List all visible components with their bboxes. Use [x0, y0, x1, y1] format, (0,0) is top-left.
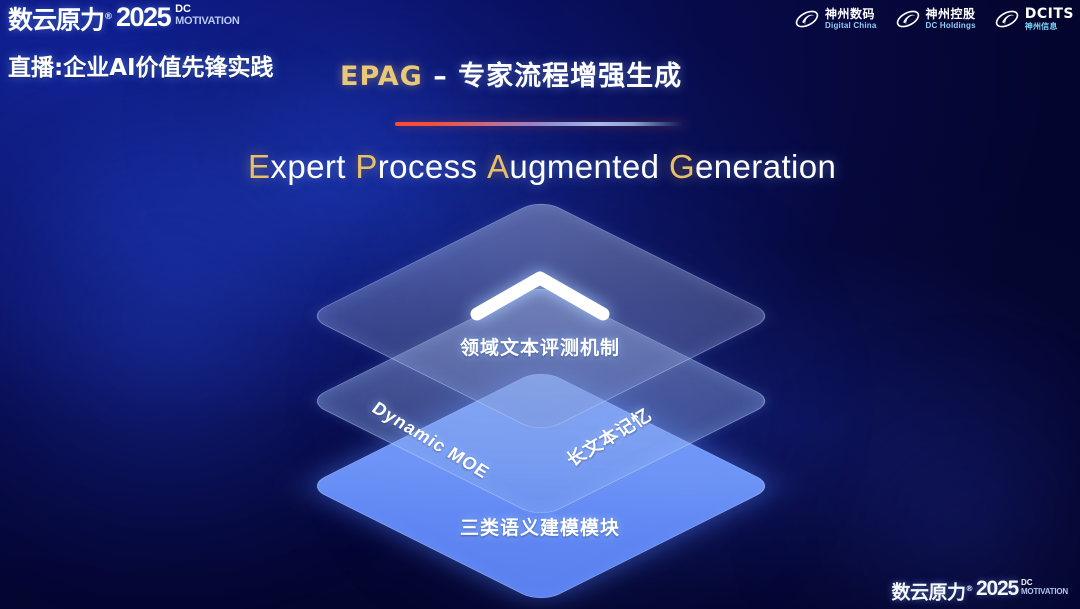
- swirl-logo-icon: [994, 6, 1020, 32]
- brand-lockup: 数云原力® 2025 DC MOTIVATION: [8, 2, 240, 35]
- page-title: EPAG – 专家流程增强生成: [340, 54, 682, 93]
- stack-label-top: 领域文本评测机制: [300, 333, 780, 360]
- partner-name-cn: 神州信息: [1025, 23, 1074, 31]
- partner-logo-text: 神州数码 Digital China: [825, 8, 877, 30]
- brand-motivation-label: MOTIVATION: [175, 16, 239, 27]
- swirl-logo-icon: [895, 6, 921, 32]
- brand-dc-label: DC: [175, 4, 239, 15]
- partner-logo-dcits: DCITS 神州信息: [994, 6, 1074, 32]
- expansion-cap-p: P: [355, 148, 377, 185]
- slide-canvas: 数云原力® 2025 DC MOTIVATION 直播:企业AI价值先锋实践 神…: [0, 0, 1080, 609]
- title-separator: –: [423, 61, 458, 92]
- title-acronym: EPAG: [340, 61, 423, 92]
- live-banner-text: 直播:企业AI价值先锋实践: [8, 48, 274, 82]
- brand-dc-lockup: DC MOTIVATION: [175, 4, 239, 27]
- background-glow-top: [120, 0, 600, 240]
- watermark-year: 2025: [976, 578, 1018, 600]
- watermark-dc-label: DC: [1021, 579, 1068, 587]
- chevron-up-icon: [467, 268, 613, 324]
- title-expansion: Expert Process Augmented Generation: [248, 148, 836, 186]
- registered-mark: ®: [104, 12, 112, 22]
- watermark-name-cn: 数云原力®: [892, 578, 974, 603]
- watermark-registered-mark: ®: [966, 584, 974, 593]
- expansion-rest-process: rocess: [378, 148, 478, 185]
- layer-stack-diagram: 领域文本评测机制 Dynamic MOE 长文本记忆 三类语义建模模块: [300, 228, 780, 568]
- expansion-rest-expert: xpert: [270, 148, 345, 185]
- expansion-rest-generation: eneration: [695, 148, 836, 185]
- partner-name-cn: 神州控股: [926, 8, 976, 20]
- background-glow-right: [750, 360, 1080, 609]
- partner-name-en: DCITS: [1025, 7, 1074, 21]
- stack-label-bottom: 三类语义建模模块: [300, 513, 780, 540]
- partner-logo-digital-china: 神州数码 Digital China: [794, 6, 877, 32]
- title-chinese: 专家流程增强生成: [458, 61, 682, 92]
- brand-name-cn: 数云原力®: [8, 2, 112, 35]
- partner-logo-dc-holdings: 神州控股 DC Holdings: [895, 6, 976, 32]
- partner-logo-text: 神州控股 DC Holdings: [926, 8, 976, 30]
- watermark-dc-lockup: DC MOTIVATION: [1021, 579, 1068, 596]
- expansion-cap-e: E: [248, 148, 270, 185]
- partner-name-cn: 神州数码: [825, 8, 877, 20]
- watermark-motivation-label: MOTIVATION: [1021, 588, 1068, 596]
- partner-logo-row: 神州数码 Digital China 神州控股 DC Holdings: [794, 6, 1074, 32]
- partner-name-en: Digital China: [825, 22, 877, 30]
- expansion-cap-a: A: [487, 148, 509, 185]
- watermark-brand: 数云原力® 2025 DC MOTIVATION: [892, 578, 1068, 603]
- divider-bar: [395, 122, 685, 126]
- expansion-cap-g: G: [669, 148, 695, 185]
- brand-year: 2025: [116, 2, 170, 32]
- expansion-rest-augmented: ugmented: [509, 148, 659, 185]
- swirl-logo-icon: [794, 6, 820, 32]
- partner-logo-text: DCITS 神州信息: [1025, 7, 1074, 31]
- partner-name-en: DC Holdings: [926, 22, 976, 30]
